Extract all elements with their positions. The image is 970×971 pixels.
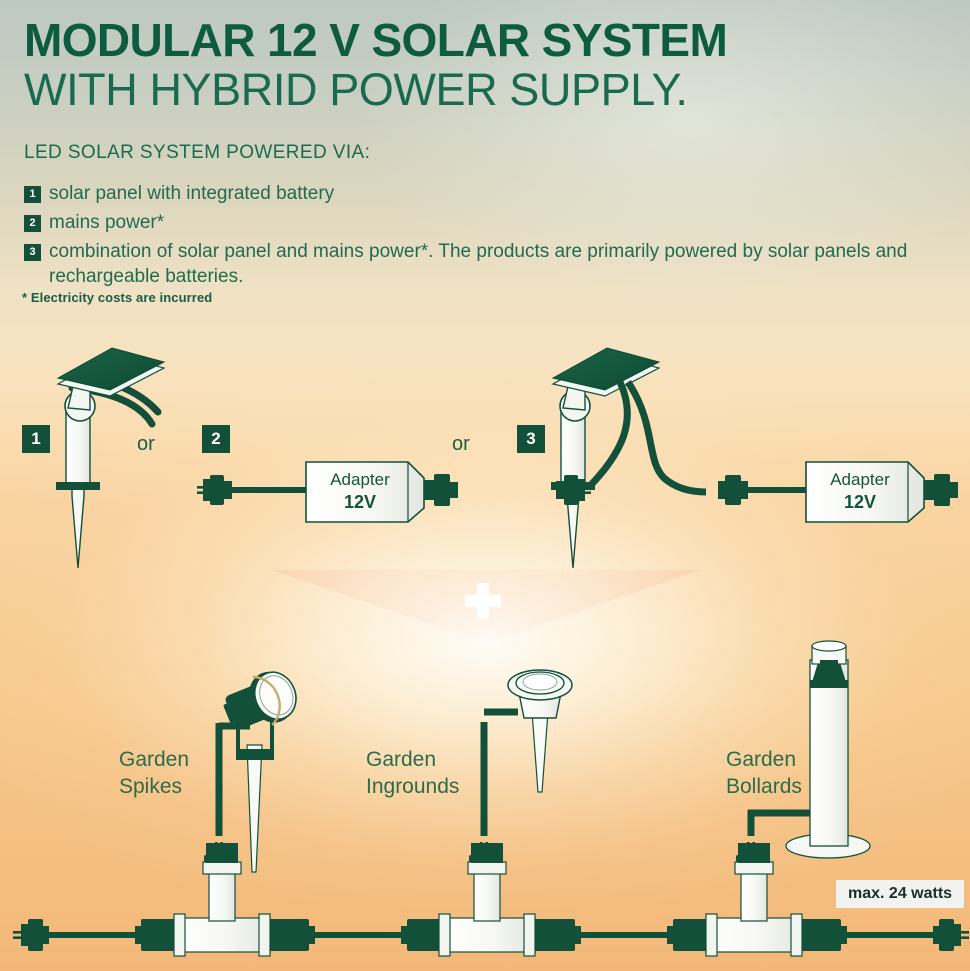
footnote: * Electricity costs are incurred [22,290,212,305]
bullet-text-2: mains power* [49,210,164,235]
adapter-value-2: 12V [800,491,920,513]
subtitle: LED SOLAR SYSTEM POWERED VIA: [24,142,370,164]
product-label-spikes-l2: Spikes [119,773,189,800]
list-item: 1 solar panel with integrated battery [24,181,944,206]
adapter-title-2: Adapter [800,469,920,491]
badge-1: 1 [24,186,41,203]
adapter-value-1: 12V [300,491,420,513]
product-label-bollards-l1: Garden [726,746,802,773]
bullet-text-3: combination of solar panel and mains pow… [49,239,944,289]
page-title-line2: WITH HYBRID POWER SUPPLY. [24,64,954,116]
option-tag-2: 2 [202,425,230,453]
product-label-ingrounds-l2: Ingrounds [366,773,459,800]
adapter-label-2: Adapter 12V [800,469,920,513]
infographic-root: MODULAR 12 V SOLAR SYSTEM WITH HYBRID PO… [0,0,970,971]
bullet-text-1: solar panel with integrated battery [49,181,334,206]
or-label-1: or [137,433,155,456]
bullet-list: 1 solar panel with integrated battery 2 … [24,181,944,293]
option-tag-1: 1 [22,425,50,453]
product-label-ingrounds-l1: Garden [366,746,459,773]
text-layer: MODULAR 12 V SOLAR SYSTEM WITH HYBRID PO… [0,0,970,971]
badge-3: 3 [24,244,41,261]
product-label-bollards: Garden Bollards [726,746,802,800]
header-block: MODULAR 12 V SOLAR SYSTEM WITH HYBRID PO… [24,14,954,116]
list-item: 2 mains power* [24,210,944,235]
product-label-spikes: Garden Spikes [119,746,189,800]
badge-2: 2 [24,215,41,232]
product-label-bollards-l2: Bollards [726,773,802,800]
option-tag-3: 3 [517,425,545,453]
or-label-2: or [452,433,470,456]
product-label-ingrounds: Garden Ingrounds [366,746,459,800]
adapter-title-1: Adapter [300,469,420,491]
max-power-badge: max. 24 watts [836,880,964,908]
page-title-line1: MODULAR 12 V SOLAR SYSTEM [24,14,954,66]
product-label-spikes-l1: Garden [119,746,189,773]
list-item: 3 combination of solar panel and mains p… [24,239,944,289]
adapter-label-1: Adapter 12V [300,469,420,513]
